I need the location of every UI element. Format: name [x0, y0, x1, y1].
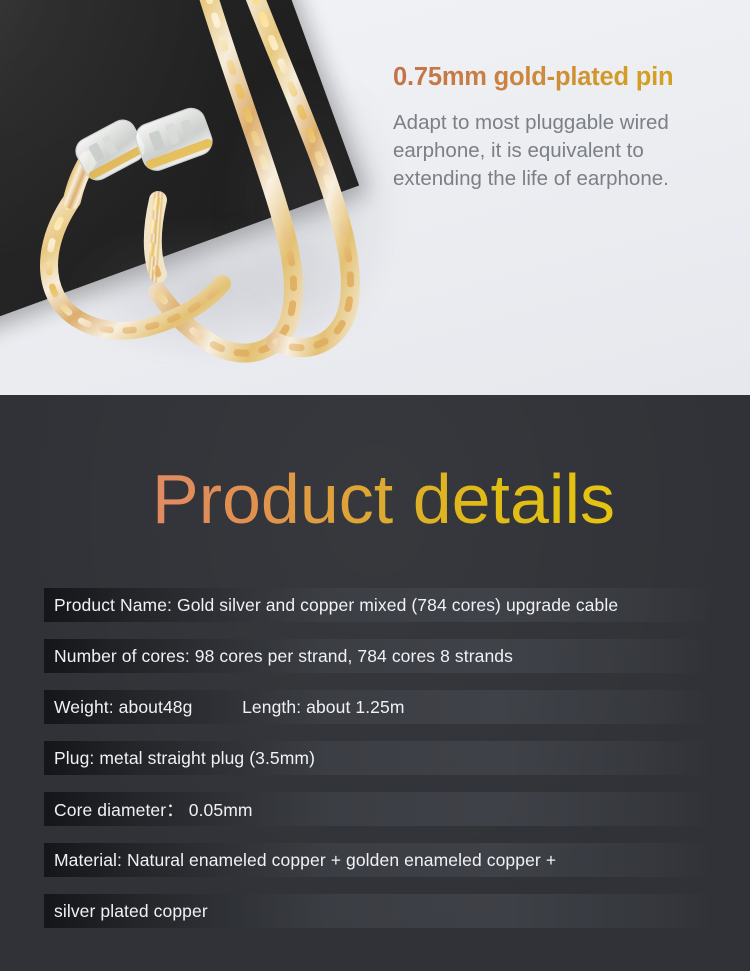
hero-heading: 0.75mm gold-plated pin: [393, 62, 750, 94]
spec-row-text: Weight: about48g Length: about 1.25m: [44, 697, 405, 718]
hero-description-line: earphone, it is equivalent to: [393, 137, 750, 165]
product-details-title: Product details: [152, 464, 615, 534]
hero-description-line: extending the life of earphone.: [393, 165, 750, 193]
product-detail-page: 0.75mm gold-plated pin Adapt to most plu…: [0, 0, 750, 971]
hero-description-line: Adapt to most pluggable wired: [393, 109, 750, 137]
spec-row-text: Product Name: Gold silver and copper mix…: [44, 595, 618, 616]
spec-row-text: silver plated copper: [44, 901, 208, 922]
spec-row: Number of cores: 98 cores per strand, 78…: [44, 639, 714, 673]
hero-description: Adapt to most pluggable wired earphone, …: [393, 109, 750, 193]
spec-row-text: Plug: metal straight plug (3.5mm): [44, 748, 315, 769]
spec-list: Product Name: Gold silver and copper mix…: [44, 588, 714, 945]
spec-row-text: Core diameter： 0.05mm: [44, 797, 253, 822]
spec-row: silver plated copper: [44, 894, 714, 928]
spec-row-text: Material: Natural enameled copper + gold…: [44, 850, 556, 871]
spec-row: Material: Natural enameled copper + gold…: [44, 843, 714, 877]
hero-section: 0.75mm gold-plated pin Adapt to most plu…: [0, 0, 750, 395]
earphone-cable-photo: [0, 0, 390, 395]
spec-row: Product Name: Gold silver and copper mix…: [44, 588, 714, 622]
spec-row: Core diameter： 0.05mm: [44, 792, 714, 826]
spec-row: Weight: about48g Length: about 1.25m: [44, 690, 714, 724]
hero-copy: 0.75mm gold-plated pin Adapt to most plu…: [393, 62, 750, 193]
spec-row-text: Number of cores: 98 cores per strand, 78…: [44, 646, 513, 667]
spec-row: Plug: metal straight plug (3.5mm): [44, 741, 714, 775]
